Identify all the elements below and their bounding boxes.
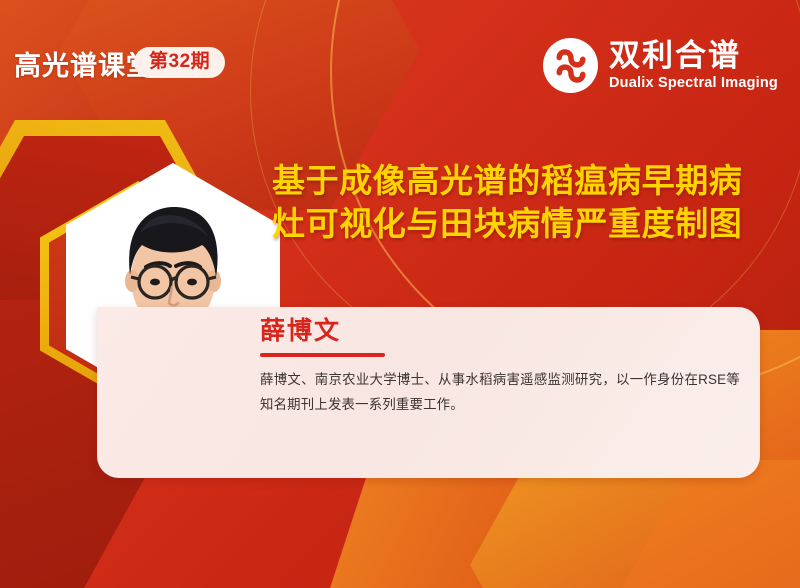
speaker-bio: 薛博文、南京农业大学博士、从事水稻病害遥感监测研究，以一作身份在RSE等知名期刊… xyxy=(260,368,740,418)
webinar-poster: 高光谱课堂 第32期 双利合谱 Dualix Spectral Imaging xyxy=(0,0,800,588)
poster-header: 高光谱课堂 第32期 双利合谱 Dualix Spectral Imaging xyxy=(0,0,800,120)
speaker-name: 薛博文 xyxy=(260,316,740,347)
speaker-info-card: 薛博文 薛博文、南京农业大学博士、从事水稻病害遥感监测研究，以一作身份在RSE等… xyxy=(97,307,760,478)
brand-logo: 双利合谱 Dualix Spectral Imaging xyxy=(543,38,778,93)
speaker-info-body: 薛博文 薛博文、南京农业大学博士、从事水稻病害遥感监测研究，以一作身份在RSE等… xyxy=(260,316,740,418)
speaker-name-underline xyxy=(260,353,385,357)
page-title: 基于成像高光谱的稻瘟病早期病灶可视化与田块病情严重度制图 xyxy=(272,160,772,246)
brand-name-cn: 双利合谱 xyxy=(609,40,778,71)
dualix-infinity-circle-icon xyxy=(543,38,598,93)
series-title: 高光谱课堂 xyxy=(14,44,154,83)
brand-text: 双利合谱 Dualix Spectral Imaging xyxy=(609,40,778,91)
decorative-hexagon-right-three xyxy=(610,460,800,588)
issue-badge: 第32期 xyxy=(134,47,225,78)
brand-name-en: Dualix Spectral Imaging xyxy=(609,76,778,91)
